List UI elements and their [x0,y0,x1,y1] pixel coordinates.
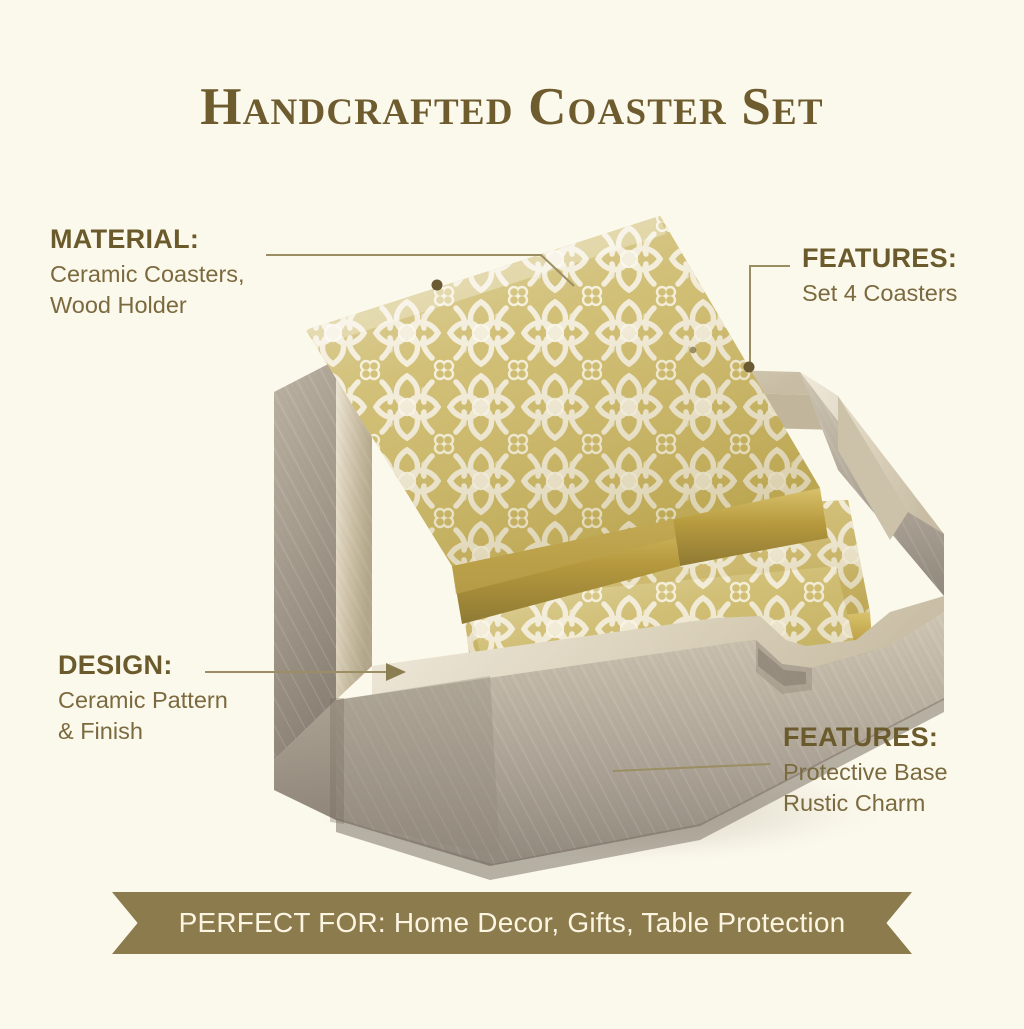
callout-design-heading: DESIGN: [58,650,228,681]
perfect-for-banner: PERFECT FOR: Home Decor, Gifts, Table Pr… [112,892,912,954]
banner-label: PERFECT FOR: Home Decor, Gifts, Table Pr… [112,892,912,954]
callout-features-bottom-line-2: Rustic Charm [783,788,948,819]
callout-connectors [0,0,1024,1024]
callout-material: MATERIAL: Ceramic Coasters, Wood Holder [50,224,245,321]
callout-material-body: Ceramic Coasters, Wood Holder [50,259,245,321]
callout-features-top: FEATURES: Set 4 Coasters [802,243,957,309]
product-image [0,0,1024,1024]
connector-features-top [750,266,790,362]
connector-features-bottom [613,764,770,771]
callout-material-line-2: Wood Holder [50,290,245,321]
callout-design-line-2: & Finish [58,716,228,747]
callout-design: DESIGN: Ceramic Pattern & Finish [58,650,228,747]
callout-features-bottom-heading: FEATURES: [783,722,948,753]
page-title: Handcrafted Coaster Set [0,78,1024,136]
callout-design-line-1: Ceramic Pattern [58,685,228,716]
callout-features-top-line-1: Set 4 Coasters [802,278,957,309]
connector-dot-features-top [744,362,755,373]
callout-features-bottom-body: Protective Base Rustic Charm [783,757,948,819]
callout-features-bottom: FEATURES: Protective Base Rustic Charm [783,722,948,819]
arrowhead-design [386,663,406,681]
product-illustration [0,0,1024,1024]
callout-features-top-body: Set 4 Coasters [802,278,957,309]
infographic-canvas: Handcrafted Coaster Set [0,0,1024,1024]
connector-material [266,255,574,286]
callout-features-bottom-line-1: Protective Base [783,757,948,788]
connector-dot-material [432,280,443,291]
callout-material-line-1: Ceramic Coasters, [50,259,245,290]
callout-design-body: Ceramic Pattern & Finish [58,685,228,747]
callout-material-heading: MATERIAL: [50,224,245,255]
callout-features-top-heading: FEATURES: [802,243,957,274]
